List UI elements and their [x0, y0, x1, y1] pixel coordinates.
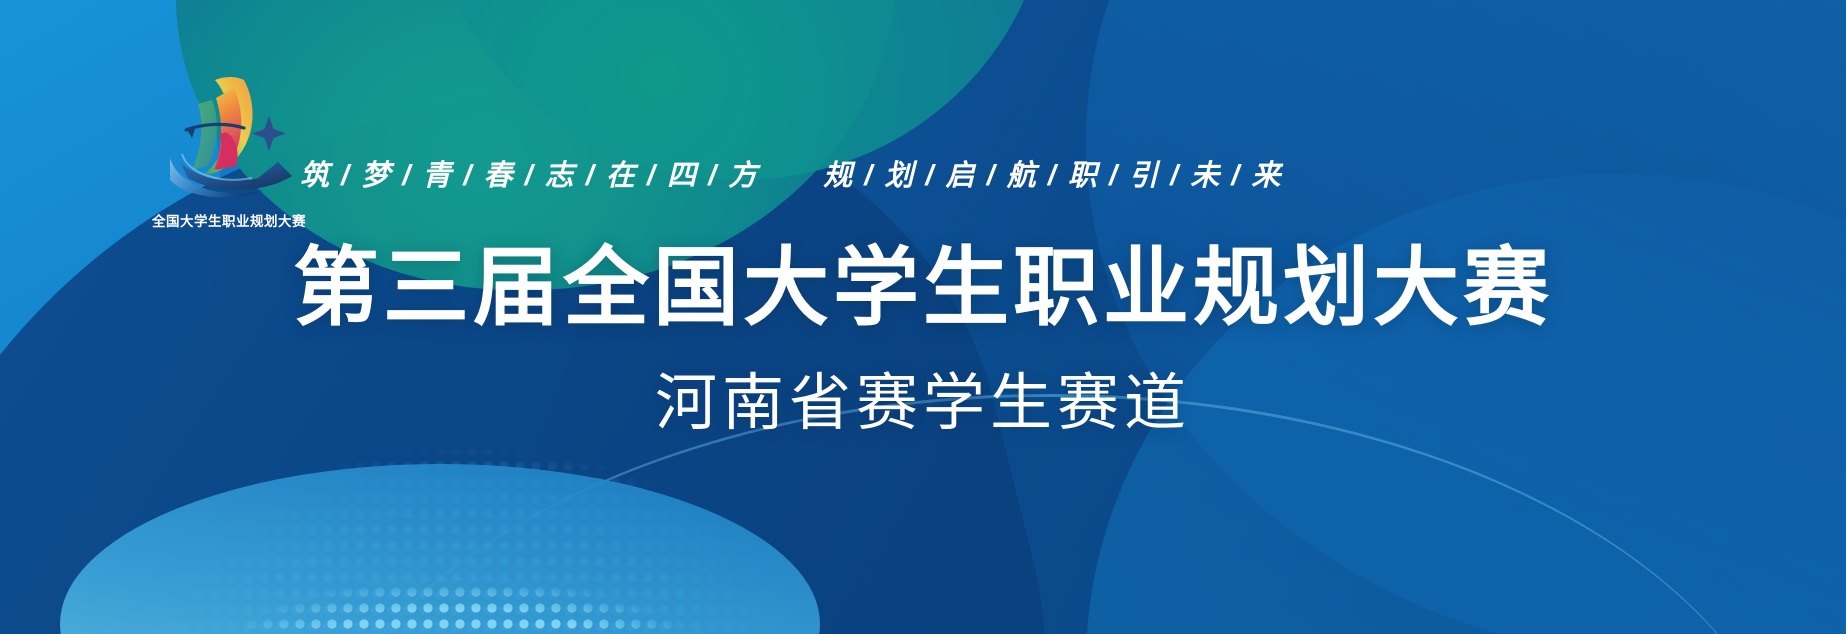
logo-caption: 全国大学生职业规划大赛 [152, 210, 302, 230]
sail-moon-star-logo-icon [152, 66, 302, 208]
slogan-phrase-left: 筑 / 梦 / 青 / 春 / 志 / 在 / 四 / 方 [300, 152, 759, 194]
background-dot-pattern-highlight [180, 520, 740, 634]
slogan-line: 筑 / 梦 / 青 / 春 / 志 / 在 / 四 / 方 规 / 划 / 启 … [300, 152, 1282, 194]
page-subtitle: 河南省赛学生赛道 [0, 370, 1846, 438]
event-banner: 全国大学生职业规划大赛 筑 / 梦 / 青 / 春 / 志 / 在 / 四 / … [0, 0, 1846, 634]
competition-logo: 全国大学生职业规划大赛 [152, 66, 302, 242]
slogan-phrase-right: 规 / 划 / 启 / 航 / 职 / 引 / 未 / 来 [823, 152, 1282, 194]
page-title: 第三届全国大学生职业规划大赛 [0, 242, 1846, 335]
